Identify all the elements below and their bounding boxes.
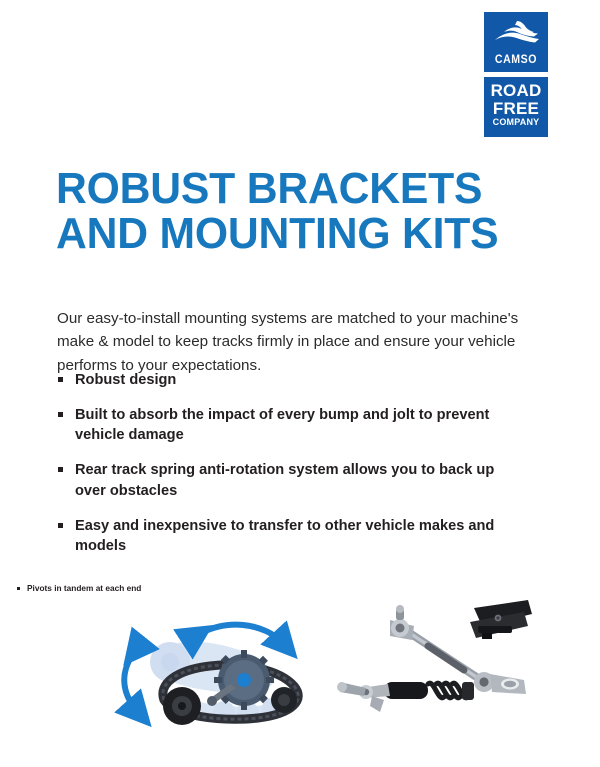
page-title: ROBUST BRACKETS AND MOUNTING KITS <box>56 167 512 257</box>
rotation-arrow-left <box>124 650 138 712</box>
camso-wordmark: CAMSO <box>487 54 546 66</box>
list-item-label: Robust design <box>75 372 176 388</box>
badge-line-free: FREE <box>484 100 548 118</box>
mounting-hardware-photo <box>332 596 532 726</box>
track-system-pivot-diagram <box>112 600 330 734</box>
list-item: Built to absorb the impact of every bump… <box>57 405 527 446</box>
bullet-square-icon <box>58 523 63 528</box>
figure-row <box>0 596 600 736</box>
footnote-label: Pivots in tandem at each end <box>27 583 141 593</box>
list-item: Easy and inexpensive to transfer to othe… <box>57 516 527 557</box>
rotation-arrow-top <box>196 625 284 644</box>
page-title-line-1: ROBUST BRACKETS <box>56 167 512 212</box>
camso-logo-tile: CAMSO <box>484 12 548 72</box>
intro-paragraph: Our easy-to-install mounting systems are… <box>57 307 525 377</box>
brand-logo-stack: CAMSO ROAD FREE COMPANY <box>484 12 548 137</box>
camso-mountain-mark-icon <box>492 19 540 47</box>
hardware-photo-svg <box>332 596 532 726</box>
list-item: Rear track spring anti-rotation system a… <box>57 460 527 501</box>
list-item-label: Built to absorb the impact of every bump… <box>75 407 489 444</box>
feature-list: Robust design Built to absorb the impact… <box>57 370 527 571</box>
bullet-square-icon <box>58 412 63 417</box>
bullet-square-icon <box>58 377 63 382</box>
badge-line-road: ROAD <box>484 82 548 100</box>
list-item-label: Rear track spring anti-rotation system a… <box>75 462 494 499</box>
footnote: Pivots in tandem at each end <box>17 583 141 593</box>
coil-spring-assembly <box>337 682 474 712</box>
bullet-square-icon <box>58 467 63 472</box>
footnote-bullet-icon <box>17 587 20 590</box>
list-item-label: Easy and inexpensive to transfer to othe… <box>75 518 494 555</box>
page-title-line-2: AND MOUNTING KITS <box>56 212 512 257</box>
page-root: { "brand": { "logo_primary": { "name": "… <box>0 0 600 767</box>
list-item: Robust design <box>57 370 527 391</box>
road-free-company-badge: ROAD FREE COMPANY <box>484 77 548 137</box>
sprocket-hub <box>237 673 251 687</box>
badge-line-company: COMPANY <box>484 118 548 127</box>
track-diagram-svg <box>112 600 330 734</box>
rail-bracket <box>470 600 532 639</box>
